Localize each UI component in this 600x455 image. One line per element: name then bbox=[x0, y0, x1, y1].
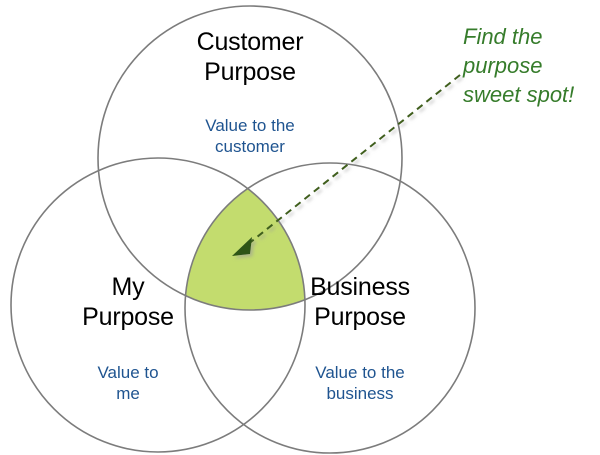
annotation-text: Find the purpose sweet spot! bbox=[463, 22, 599, 109]
venn-diagram-canvas: Customer Purpose Value to the customer M… bbox=[0, 0, 600, 455]
annotation-arrow-line bbox=[247, 75, 460, 245]
